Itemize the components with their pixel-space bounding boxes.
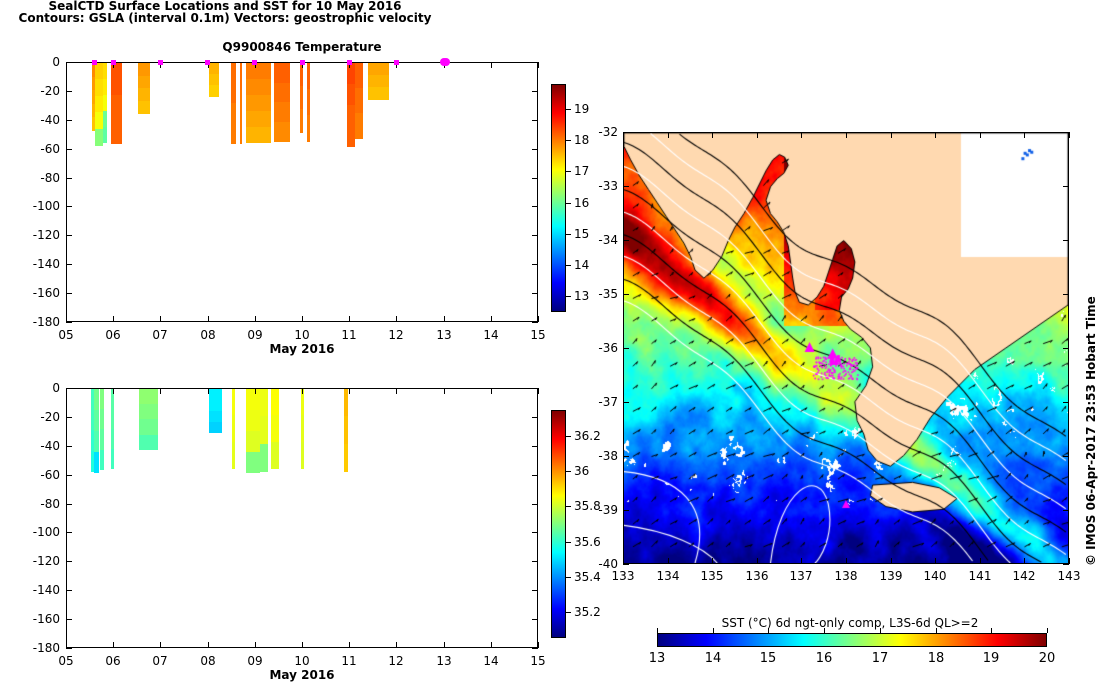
profile-depth-bin <box>111 79 122 96</box>
y-tick-label: -80 <box>20 171 60 185</box>
map-x-tick-top <box>891 132 892 138</box>
y-tick <box>66 532 72 533</box>
sst-map[interactable] <box>623 132 1069 564</box>
temperature-panel-title: Q9900846 Temperature <box>66 40 538 54</box>
dive-profile <box>347 63 355 147</box>
colorbar-tick-label: 35.4 <box>574 570 601 584</box>
profile-depth-bin <box>138 63 150 76</box>
sst-colorbar-tick-label: 17 <box>860 651 900 666</box>
profile-depth-bin <box>240 117 242 145</box>
map-x-tick-top <box>846 132 847 138</box>
y-tick <box>66 561 72 562</box>
map-y-tick-label: -32 <box>583 125 618 139</box>
map-x-tick-label: 141 <box>960 569 1000 583</box>
x-tick-top <box>538 62 539 68</box>
x-tick <box>538 316 539 322</box>
map-y-tick-right <box>1063 294 1069 295</box>
profile-depth-bin <box>260 444 268 472</box>
y-tick <box>66 322 72 323</box>
sst-colorbar-tick <box>880 628 881 633</box>
profile-depth-bin <box>240 63 242 91</box>
y-tick-right <box>532 91 538 92</box>
x-tick-label: 08 <box>192 328 224 342</box>
map-y-tick <box>623 402 629 403</box>
profile-depth-bin <box>246 127 271 143</box>
sst-colorbar-tick <box>991 628 992 633</box>
x-tick-label: 11 <box>333 328 365 342</box>
map-y-tick <box>623 564 629 565</box>
map-title-line2: Contours: GSLA (interval 0.1m) Vectors: … <box>0 12 450 24</box>
x-tick <box>444 642 445 648</box>
profile-depth-bin <box>344 444 349 472</box>
x-tick-label: 13 <box>428 328 460 342</box>
colorbar-tick-label: 36 <box>574 464 589 478</box>
y-tick <box>66 120 72 121</box>
y-tick-right <box>532 149 538 150</box>
profile-depth-bin <box>209 85 220 97</box>
profile-depth-bin <box>138 101 150 114</box>
x-tick <box>255 316 256 322</box>
sst-colorbar-tick-label: 16 <box>804 651 844 666</box>
y-tick-right <box>532 178 538 179</box>
y-tick <box>66 264 72 265</box>
profile-depth-bin <box>246 63 271 79</box>
y-tick <box>66 475 72 476</box>
profile-depth-bin <box>95 129 103 146</box>
map-y-tick-right <box>1063 132 1069 133</box>
map-y-tick <box>623 240 629 241</box>
map-x-tick <box>757 558 758 564</box>
dive-profile <box>301 389 304 468</box>
profile-depth-bin <box>95 63 103 80</box>
temperature-colorbar <box>551 84 566 312</box>
profile-depth-bin <box>139 389 158 405</box>
dive-surface-marker <box>347 60 352 65</box>
x-tick-top <box>349 388 350 394</box>
y-tick-right <box>532 561 538 562</box>
dive-profile <box>274 63 291 141</box>
profile-depth-bin <box>209 422 222 433</box>
profile-depth-bin <box>111 95 122 112</box>
map-x-tick <box>935 558 936 564</box>
x-tick <box>208 642 209 648</box>
y-tick-right <box>532 120 538 121</box>
dive-profile <box>100 389 104 470</box>
colorbar-tick-label: 14 <box>574 258 589 272</box>
y-tick <box>66 62 72 63</box>
y-tick-label: -60 <box>20 468 60 482</box>
colorbar-tick-label: 17 <box>574 164 589 178</box>
profile-depth-bin <box>209 63 220 75</box>
profile-depth-bin <box>231 124 236 145</box>
x-tick-label: 07 <box>144 654 176 668</box>
profile-depth-bin <box>300 109 303 133</box>
profile-depth-bin <box>368 87 389 100</box>
map-y-tick-label: -39 <box>583 503 618 517</box>
map-x-tick-label: 139 <box>871 569 911 583</box>
map-y-tick-label: -37 <box>583 395 618 409</box>
y-tick-right <box>532 293 538 294</box>
profile-depth-bin <box>246 79 271 95</box>
x-tick <box>160 642 161 648</box>
profile-depth-bin <box>138 76 150 89</box>
profile-depth-bin <box>111 112 122 129</box>
y-tick-label: -180 <box>20 641 60 655</box>
profile-depth-bin <box>138 88 150 101</box>
x-tick-label: 14 <box>475 328 507 342</box>
map-x-tick-label: 140 <box>915 569 955 583</box>
x-tick <box>491 316 492 322</box>
y-tick-label: -60 <box>20 142 60 156</box>
y-tick <box>66 504 72 505</box>
map-y-tick <box>623 294 629 295</box>
y-tick <box>66 91 72 92</box>
profile-depth-bin <box>260 389 268 417</box>
colorbar-tick <box>566 471 571 472</box>
y-tick <box>66 619 72 620</box>
colorbar-tick <box>566 612 571 613</box>
profile-depth-bin <box>260 416 268 444</box>
profile-depth-bin <box>103 111 107 127</box>
map-y-tick <box>623 510 629 511</box>
x-tick <box>302 316 303 322</box>
y-tick <box>66 446 72 447</box>
profile-depth-bin <box>274 122 291 142</box>
map-x-tick-top <box>712 132 713 138</box>
profile-depth-bin <box>240 90 242 118</box>
profile-depth-bin <box>274 102 291 122</box>
profile-depth-bin <box>231 103 236 124</box>
map-x-tick-label: 133 <box>603 569 643 583</box>
colorbar-tick-label: 16 <box>574 196 589 210</box>
dive-profile <box>232 389 235 468</box>
colorbar-tick <box>566 140 571 141</box>
map-x-tick-label: 134 <box>648 569 688 583</box>
colorbar-tick <box>566 506 571 507</box>
dive-surface-marker <box>92 60 97 65</box>
x-tick-top <box>160 388 161 394</box>
dive-profile <box>260 389 268 471</box>
profile-depth-bin <box>246 431 259 453</box>
x-tick-top <box>491 62 492 68</box>
x-tick <box>302 642 303 648</box>
y-tick-right <box>532 388 538 389</box>
dive-surface-marker <box>394 60 399 65</box>
map-y-tick-label: -34 <box>583 233 618 247</box>
x-tick <box>444 316 445 322</box>
profile-depth-bin <box>307 89 310 116</box>
profile-depth-bin <box>95 79 103 96</box>
map-x-tick <box>891 558 892 564</box>
profile-depth-bin <box>355 88 363 114</box>
profile-depth-bin <box>274 83 291 103</box>
profile-depth-bin <box>347 126 355 148</box>
x-tick-label: 13 <box>428 654 460 668</box>
map-x-tick-label: 137 <box>781 569 821 583</box>
sst-colorbar-tick <box>768 628 769 633</box>
y-tick-right <box>532 264 538 265</box>
x-tick-label: 08 <box>192 654 224 668</box>
temperature-profile-area <box>67 63 537 321</box>
profile-depth-bin <box>139 419 158 435</box>
profile-depth-bin <box>300 86 303 110</box>
profile-depth-bin <box>209 400 222 411</box>
dive-profile <box>95 63 103 145</box>
map-y-tick <box>623 456 629 457</box>
profile-depth-bin <box>95 112 103 129</box>
profile-depth-bin <box>139 435 158 451</box>
profile-depth-bin <box>271 389 279 416</box>
sst-colorbar-tick-label: 13 <box>637 651 677 666</box>
y-tick-right <box>532 619 538 620</box>
profile-depth-bin <box>94 452 99 474</box>
colorbar-tick <box>566 234 571 235</box>
y-tick <box>66 178 72 179</box>
map-x-tick <box>1069 558 1070 564</box>
map-x-tick-label: 136 <box>737 569 777 583</box>
map-x-tick-label: 135 <box>692 569 732 583</box>
profile-depth-bin <box>111 449 114 469</box>
profile-depth-bin <box>246 410 259 432</box>
dive-profile <box>231 63 236 144</box>
x-tick-label: 15 <box>522 328 554 342</box>
colorbar-tick <box>566 171 571 172</box>
colorbar-tick-label: 35.2 <box>574 605 601 619</box>
profile-depth-bin <box>100 389 104 410</box>
profile-depth-bin <box>100 409 104 430</box>
profile-depth-bin <box>103 79 107 95</box>
profile-depth-bin <box>246 95 271 111</box>
y-tick <box>66 590 72 591</box>
x-tick-top <box>491 388 492 394</box>
sst-colorbar <box>657 633 1047 647</box>
profile-depth-bin <box>355 113 363 139</box>
dive-profile <box>209 389 222 432</box>
map-y-tick-right <box>1063 240 1069 241</box>
sst-colorbar-tick-label: 14 <box>693 651 733 666</box>
x-tick-top <box>255 388 256 394</box>
map-x-tick <box>1024 558 1025 564</box>
sst-colorbar-tick <box>713 628 714 633</box>
x-tick-label: 12 <box>380 654 412 668</box>
x-tick-label: 07 <box>144 328 176 342</box>
x-tick-top <box>113 388 114 394</box>
dive-surface-marker <box>158 60 163 65</box>
profile-depth-bin <box>307 115 310 142</box>
profile-depth-bin <box>307 63 310 90</box>
map-y-tick-right <box>1063 564 1069 565</box>
x-tick <box>349 642 350 648</box>
y-tick-right <box>532 648 538 649</box>
profile-depth-bin <box>94 389 99 411</box>
y-tick-right <box>532 235 538 236</box>
y-tick-label: 0 <box>20 381 60 395</box>
x-tick <box>349 316 350 322</box>
profile-depth-bin <box>209 74 220 86</box>
x-tick <box>160 316 161 322</box>
profile-depth-bin <box>231 63 236 84</box>
profile-depth-bin <box>209 389 222 400</box>
map-y-tick <box>623 132 629 133</box>
sst-colorbar-tick <box>657 628 658 633</box>
y-tick <box>66 648 72 649</box>
profile-depth-bin <box>368 63 389 76</box>
dive-profile <box>271 389 279 468</box>
y-tick-right <box>532 532 538 533</box>
dive-profile <box>111 63 122 144</box>
sst-colorbar-tick-label: 19 <box>971 651 1011 666</box>
map-x-tick-top <box>980 132 981 138</box>
x-tick-label: 10 <box>286 328 318 342</box>
dive-profile <box>246 389 259 473</box>
y-tick-label: -160 <box>20 612 60 626</box>
profile-depth-bin <box>103 63 107 79</box>
y-tick-label: 0 <box>20 55 60 69</box>
profile-depth-bin <box>231 83 236 104</box>
map-x-tick-top <box>668 132 669 138</box>
map-x-tick-label: 142 <box>1004 569 1044 583</box>
map-y-tick-label: -40 <box>583 557 618 571</box>
dive-surface-marker <box>205 60 210 65</box>
sst-colorbar-tick-label: 18 <box>916 651 956 666</box>
profile-depth-bin <box>103 95 107 111</box>
x-tick <box>491 642 492 648</box>
profile-depth-bin <box>344 416 349 444</box>
profile-depth-bin <box>103 127 107 143</box>
profile-depth-bin <box>246 111 271 127</box>
x-tick <box>396 642 397 648</box>
profile-depth-bin <box>301 415 304 442</box>
x-tick-label: 05 <box>50 328 82 342</box>
y-tick-right <box>532 206 538 207</box>
x-tick <box>113 316 114 322</box>
colorbar-tick <box>566 109 571 110</box>
colorbar-tick-label: 19 <box>574 102 589 116</box>
profile-depth-bin <box>100 429 104 450</box>
dive-profile <box>94 389 99 473</box>
profile-depth-bin <box>94 431 99 453</box>
salinity-profile-area <box>67 389 537 647</box>
profile-depth-bin <box>301 442 304 469</box>
y-tick-label: -100 <box>20 199 60 213</box>
dive-surface-marker <box>442 58 450 66</box>
profile-depth-bin <box>95 96 103 113</box>
colorbar-tick <box>566 296 571 297</box>
sst-colorbar-tick <box>936 628 937 633</box>
temperature-xlabel: May 2016 <box>66 342 538 356</box>
map-y-tick-right <box>1063 348 1069 349</box>
map-x-tick-top <box>935 132 936 138</box>
map-y-tick-right <box>1063 186 1069 187</box>
colorbar-tick <box>566 577 571 578</box>
profile-depth-bin <box>344 389 349 417</box>
sst-colorbar-tick <box>824 628 825 633</box>
dive-profile <box>103 63 107 142</box>
dive-profile <box>209 63 220 96</box>
profile-depth-bin <box>111 429 114 449</box>
x-tick-label: 05 <box>50 654 82 668</box>
profile-depth-bin <box>139 404 158 420</box>
x-tick-top <box>444 388 445 394</box>
map-y-tick-label: -35 <box>583 287 618 301</box>
map-y-tick-label: -38 <box>583 449 618 463</box>
colorbar-tick <box>566 436 571 437</box>
dive-surface-marker <box>252 60 257 65</box>
y-tick-label: -140 <box>20 583 60 597</box>
x-tick <box>208 316 209 322</box>
map-x-tick <box>980 558 981 564</box>
map-x-tick <box>801 558 802 564</box>
y-tick-label: -20 <box>20 84 60 98</box>
profile-depth-bin <box>347 84 355 106</box>
salinity-xlabel: May 2016 <box>66 668 538 682</box>
map-x-tick-top <box>1024 132 1025 138</box>
x-tick-label: 11 <box>333 654 365 668</box>
x-tick-label: 12 <box>380 328 412 342</box>
sst-colorbar-tick-label: 20 <box>1027 651 1067 666</box>
x-tick-label: 09 <box>239 654 271 668</box>
x-tick-label: 06 <box>97 654 129 668</box>
map-y-tick <box>623 348 629 349</box>
dive-profile <box>246 63 271 142</box>
y-tick <box>66 235 72 236</box>
colorbar-tick <box>566 203 571 204</box>
x-tick-label: 06 <box>97 328 129 342</box>
x-tick-label: 15 <box>522 654 554 668</box>
dive-profile <box>300 63 303 132</box>
colorbar-tick-label: 35.6 <box>574 535 601 549</box>
x-tick-top <box>208 388 209 394</box>
map-y-tick-label: -33 <box>583 179 618 193</box>
dive-profile <box>368 63 389 99</box>
map-y-tick-label: -36 <box>583 341 618 355</box>
dive-profile <box>240 63 242 144</box>
profile-depth-bin <box>274 63 291 83</box>
sst-colorbar-label: SST (°C) 6d ngt-only comp, L3S-6d QL>=2 <box>650 616 1050 630</box>
dive-surface-marker <box>300 60 305 65</box>
profile-depth-bin <box>111 409 114 429</box>
colorbar-tick-label: 36.2 <box>574 429 601 443</box>
y-tick-right <box>532 417 538 418</box>
y-tick-label: -20 <box>20 410 60 424</box>
y-tick <box>66 388 72 389</box>
profile-depth-bin <box>347 105 355 127</box>
y-tick <box>66 417 72 418</box>
sst-colorbar-tick <box>1047 628 1048 633</box>
y-tick-label: -140 <box>20 257 60 271</box>
dive-profile <box>139 389 158 450</box>
colorbar-tick <box>566 265 571 266</box>
x-tick-label: 10 <box>286 654 318 668</box>
profile-depth-bin <box>232 442 235 469</box>
map-x-tick <box>668 558 669 564</box>
y-tick-label: -160 <box>20 286 60 300</box>
y-tick-label: -120 <box>20 554 60 568</box>
imos-credit: © IMOS 06-Apr-2017 23:53 Hobart Time <box>1084 296 1098 566</box>
salinity-colorbar <box>551 410 566 638</box>
map-y-tick-right <box>1063 510 1069 511</box>
map-x-tick-label: 138 <box>826 569 866 583</box>
map-x-tick-top <box>1069 132 1070 138</box>
x-tick <box>113 642 114 648</box>
map-x-tick-top <box>757 132 758 138</box>
y-tick-right <box>532 446 538 447</box>
dive-profile <box>344 389 349 471</box>
dive-profile <box>355 63 363 138</box>
y-tick-right <box>532 590 538 591</box>
map-x-tick-top <box>801 132 802 138</box>
x-tick <box>255 642 256 648</box>
